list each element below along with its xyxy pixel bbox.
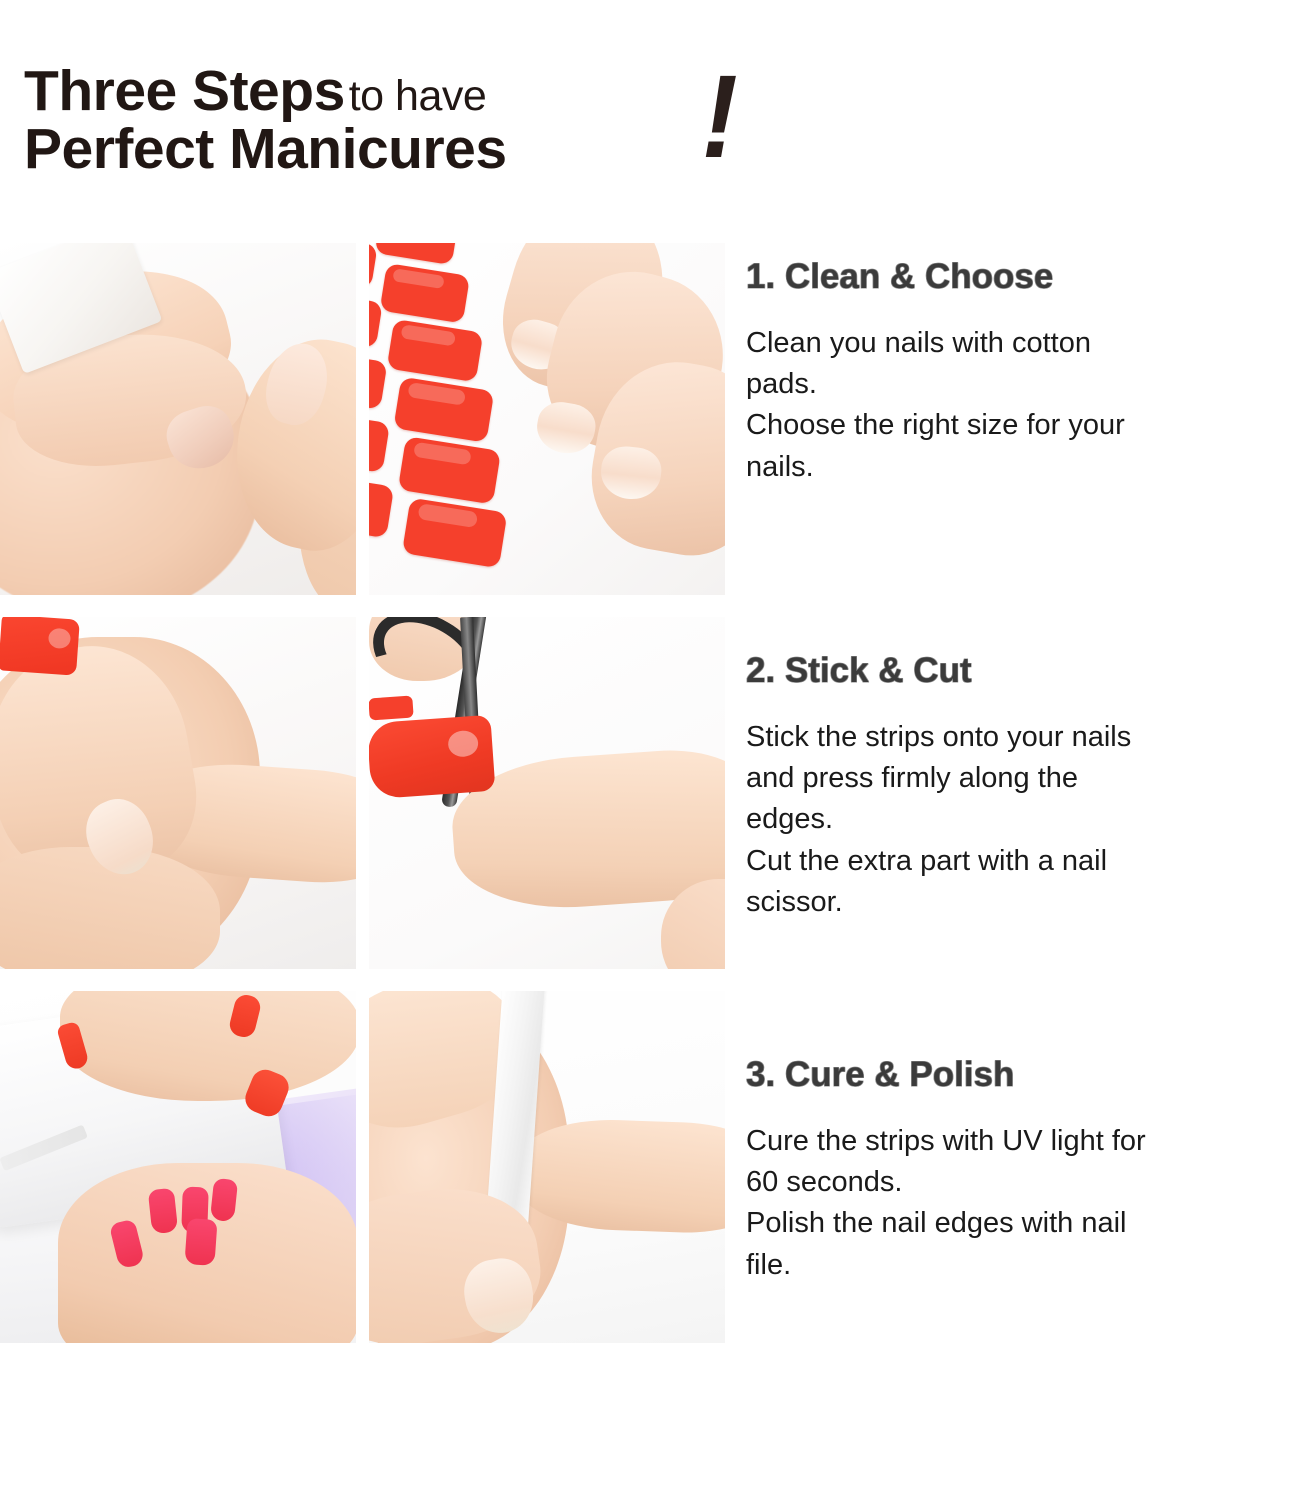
nail-strip xyxy=(375,243,459,265)
step-2-line: and press firmly along the xyxy=(746,758,1294,799)
step-1-heading: 1. Clean & Choose xyxy=(746,257,1294,297)
photo-row-step-3 xyxy=(0,991,728,1343)
step-1-line: Choose the right size for your xyxy=(746,405,1294,446)
nail-strip xyxy=(393,377,494,443)
lamp-branding-emboss xyxy=(0,1124,88,1171)
photo-filing-nail-edge-with-nail-file xyxy=(369,991,725,1343)
title-line-1: Three Steps to have xyxy=(24,62,784,120)
applied-red-strip xyxy=(0,617,80,676)
step-2-line: Cut the extra part with a nail xyxy=(746,841,1294,882)
step-1-line: Clean you nails with cotton xyxy=(746,323,1294,364)
nail-strip xyxy=(369,243,378,289)
step-2-heading: 2. Stick & Cut xyxy=(746,651,1294,691)
step-2-line: scissor. xyxy=(746,882,1294,923)
title-line-1-light: to have xyxy=(349,72,487,120)
step-3-line: Cure the strips with UV light for xyxy=(746,1121,1294,1162)
red-nail-shape xyxy=(148,1188,178,1234)
nail-strip xyxy=(369,474,394,538)
step-1-line: nails. xyxy=(746,447,1294,488)
photo-curing-nails-under-uv-lamp xyxy=(0,991,356,1343)
title-line-2: Perfect Manicures xyxy=(24,120,784,178)
photo-row-step-1 xyxy=(0,243,728,595)
nail-strip xyxy=(402,498,508,569)
photo-cutting-excess-strip-with-scissors xyxy=(369,617,725,969)
photo-cleaning-nail-with-cotton-pad xyxy=(0,243,356,595)
step-1: 1. Clean & Choose Clean you nails with c… xyxy=(746,257,1294,637)
step-2-line: Stick the strips onto your nails xyxy=(746,717,1294,758)
exclamation-mark: ! xyxy=(702,58,738,176)
step-3: 3. Cure & Polish Cure the strips with UV… xyxy=(746,1055,1294,1415)
step-1-body: Clean you nails with cotton pads. Choose… xyxy=(746,323,1294,488)
nail-strip xyxy=(369,412,390,473)
nail-strip xyxy=(380,263,470,324)
photo-sticking-strip-onto-nail xyxy=(0,617,356,969)
nail-strip xyxy=(387,319,484,382)
step-3-body: Cure the strips with UV light for 60 sec… xyxy=(746,1121,1294,1286)
step-3-line: file. xyxy=(746,1245,1294,1286)
step-2-line: edges. xyxy=(746,799,1294,840)
step-3-line: 60 seconds. xyxy=(746,1162,1294,1203)
step-3-heading: 3. Cure & Polish xyxy=(746,1055,1294,1095)
photo-row-step-2 xyxy=(0,617,728,969)
photo-grid xyxy=(0,243,728,1365)
step-3-line: Polish the nail edges with nail xyxy=(746,1203,1294,1244)
step-2: 2. Stick & Cut Stick the strips onto you… xyxy=(746,651,1294,1041)
page-title: Three Steps to have Perfect Manicures xyxy=(24,62,784,178)
title-line-2-strong: Perfect Manicures xyxy=(24,117,507,181)
excess-strip-shape xyxy=(369,695,414,720)
nail-strip xyxy=(369,351,388,410)
steps-text-column: 1. Clean & Choose Clean you nails with c… xyxy=(746,243,1294,1415)
step-1-line: pads. xyxy=(746,364,1294,405)
step-2-body: Stick the strips onto your nails and pre… xyxy=(746,717,1294,923)
photo-red-nail-strip-sheet xyxy=(369,243,725,595)
title-line-1-strong: Three Steps xyxy=(24,59,345,123)
red-nail-shape xyxy=(184,1218,217,1266)
red-nail-shape xyxy=(369,715,495,799)
nail-strip xyxy=(398,436,501,504)
